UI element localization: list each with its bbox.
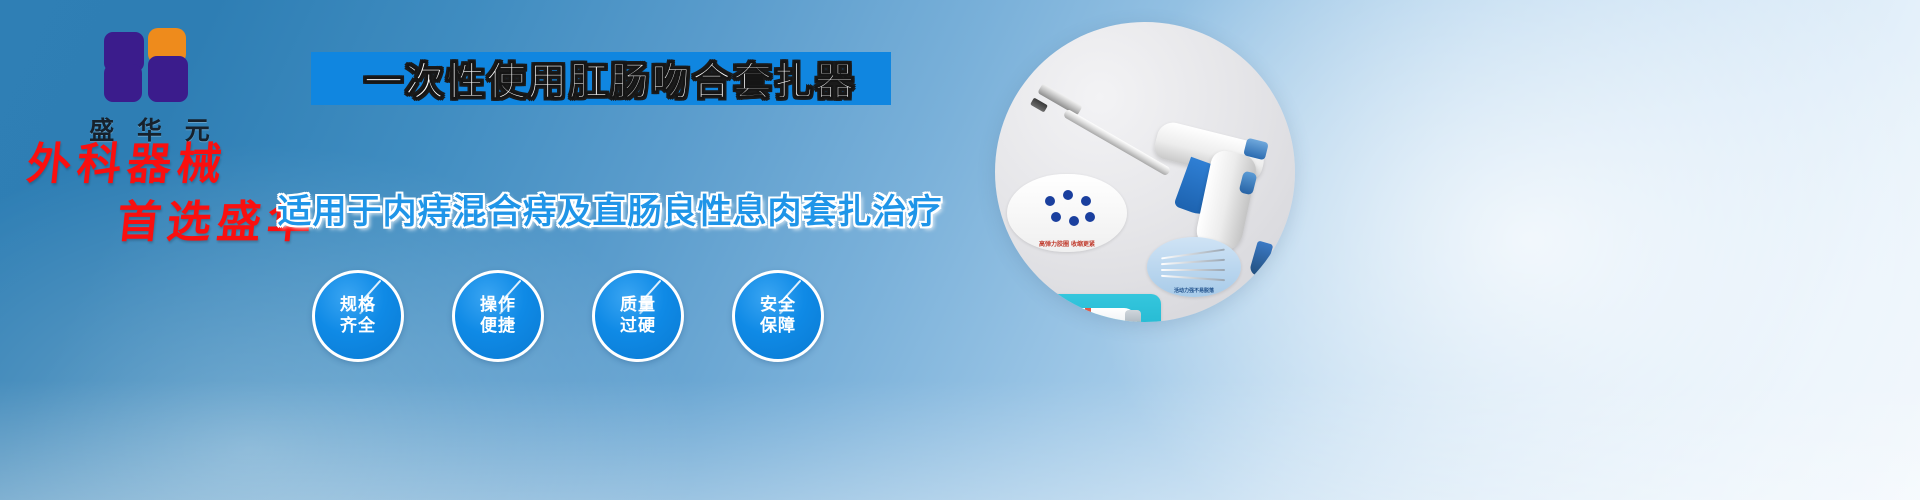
brand-logo[interactable]: 盛 华 元 — [62, 28, 237, 147]
feature-badge-line-1: 质量 — [620, 295, 656, 316]
inset-rings-photo: 高弹力胶圈 收缩更紧 — [1007, 174, 1127, 252]
promo-banner: 盛 华 元 外科器械 首选盛华 一次性使用肛肠吻合套扎器 适用于内痔混合痔及直肠… — [0, 0, 1920, 500]
feature-badge-safety[interactable]: 安全 保障 — [732, 270, 824, 362]
feature-badge-group: 规格 齐全 操作 便捷 质量 过硬 安全 保障 — [312, 270, 872, 370]
needle-icon — [1161, 275, 1225, 281]
page-subtitle: 适用于内痔混合痔及直肠良性息肉套扎治疗 — [300, 186, 920, 230]
needle-icon — [1161, 259, 1225, 265]
vial-band-icon — [1085, 308, 1091, 322]
product-photo: 高弹力胶圈 收缩更紧 活动力强不易脱落 — [995, 22, 1295, 322]
feature-badge-specifications[interactable]: 规格 齐全 — [312, 270, 404, 362]
feature-badge-line-2: 过硬 — [620, 316, 656, 337]
feature-badge-line-2: 便捷 — [480, 316, 516, 337]
inset-vial-photo — [1033, 294, 1161, 322]
shenghuayuan-logo-icon — [104, 28, 196, 104]
ring-dot-icon — [1051, 212, 1061, 222]
feature-badge-line-2: 齐全 — [340, 316, 376, 337]
inset-rings-label: 高弹力胶圈 收缩更紧 — [1007, 239, 1127, 248]
ring-dot-icon — [1063, 190, 1073, 200]
logo-square-bottom-left — [104, 64, 142, 102]
feature-badge-line-1: 操作 — [480, 295, 516, 316]
vial-cap-icon — [1125, 310, 1141, 322]
inset-needles-photo: 活动力强不易脱落 — [1147, 237, 1241, 297]
inset-needles-label: 活动力强不易脱落 — [1147, 287, 1241, 294]
bottom-fade-overlay — [0, 380, 1920, 500]
feature-badge-line-2: 保障 — [760, 316, 796, 337]
logo-square-bottom-right — [148, 56, 188, 102]
needle-icon — [1161, 249, 1225, 260]
feature-badge-line-1: 规格 — [340, 295, 376, 316]
ring-dot-icon — [1085, 212, 1095, 222]
needle-icon — [1161, 269, 1225, 271]
page-title: 一次性使用肛肠吻合套扎器 — [320, 52, 900, 105]
device-tail-icon — [1249, 240, 1274, 277]
ring-dot-icon — [1045, 196, 1055, 206]
feature-badge-quality[interactable]: 质量 过硬 — [592, 270, 684, 362]
ring-dot-icon — [1081, 196, 1091, 206]
device-tip-end-icon — [1030, 98, 1048, 113]
slogan-line-1: 外科器械 — [1, 143, 366, 187]
ring-dot-icon — [1069, 216, 1079, 226]
feature-badge-operation[interactable]: 操作 便捷 — [452, 270, 544, 362]
feature-badge-line-1: 安全 — [760, 295, 796, 316]
